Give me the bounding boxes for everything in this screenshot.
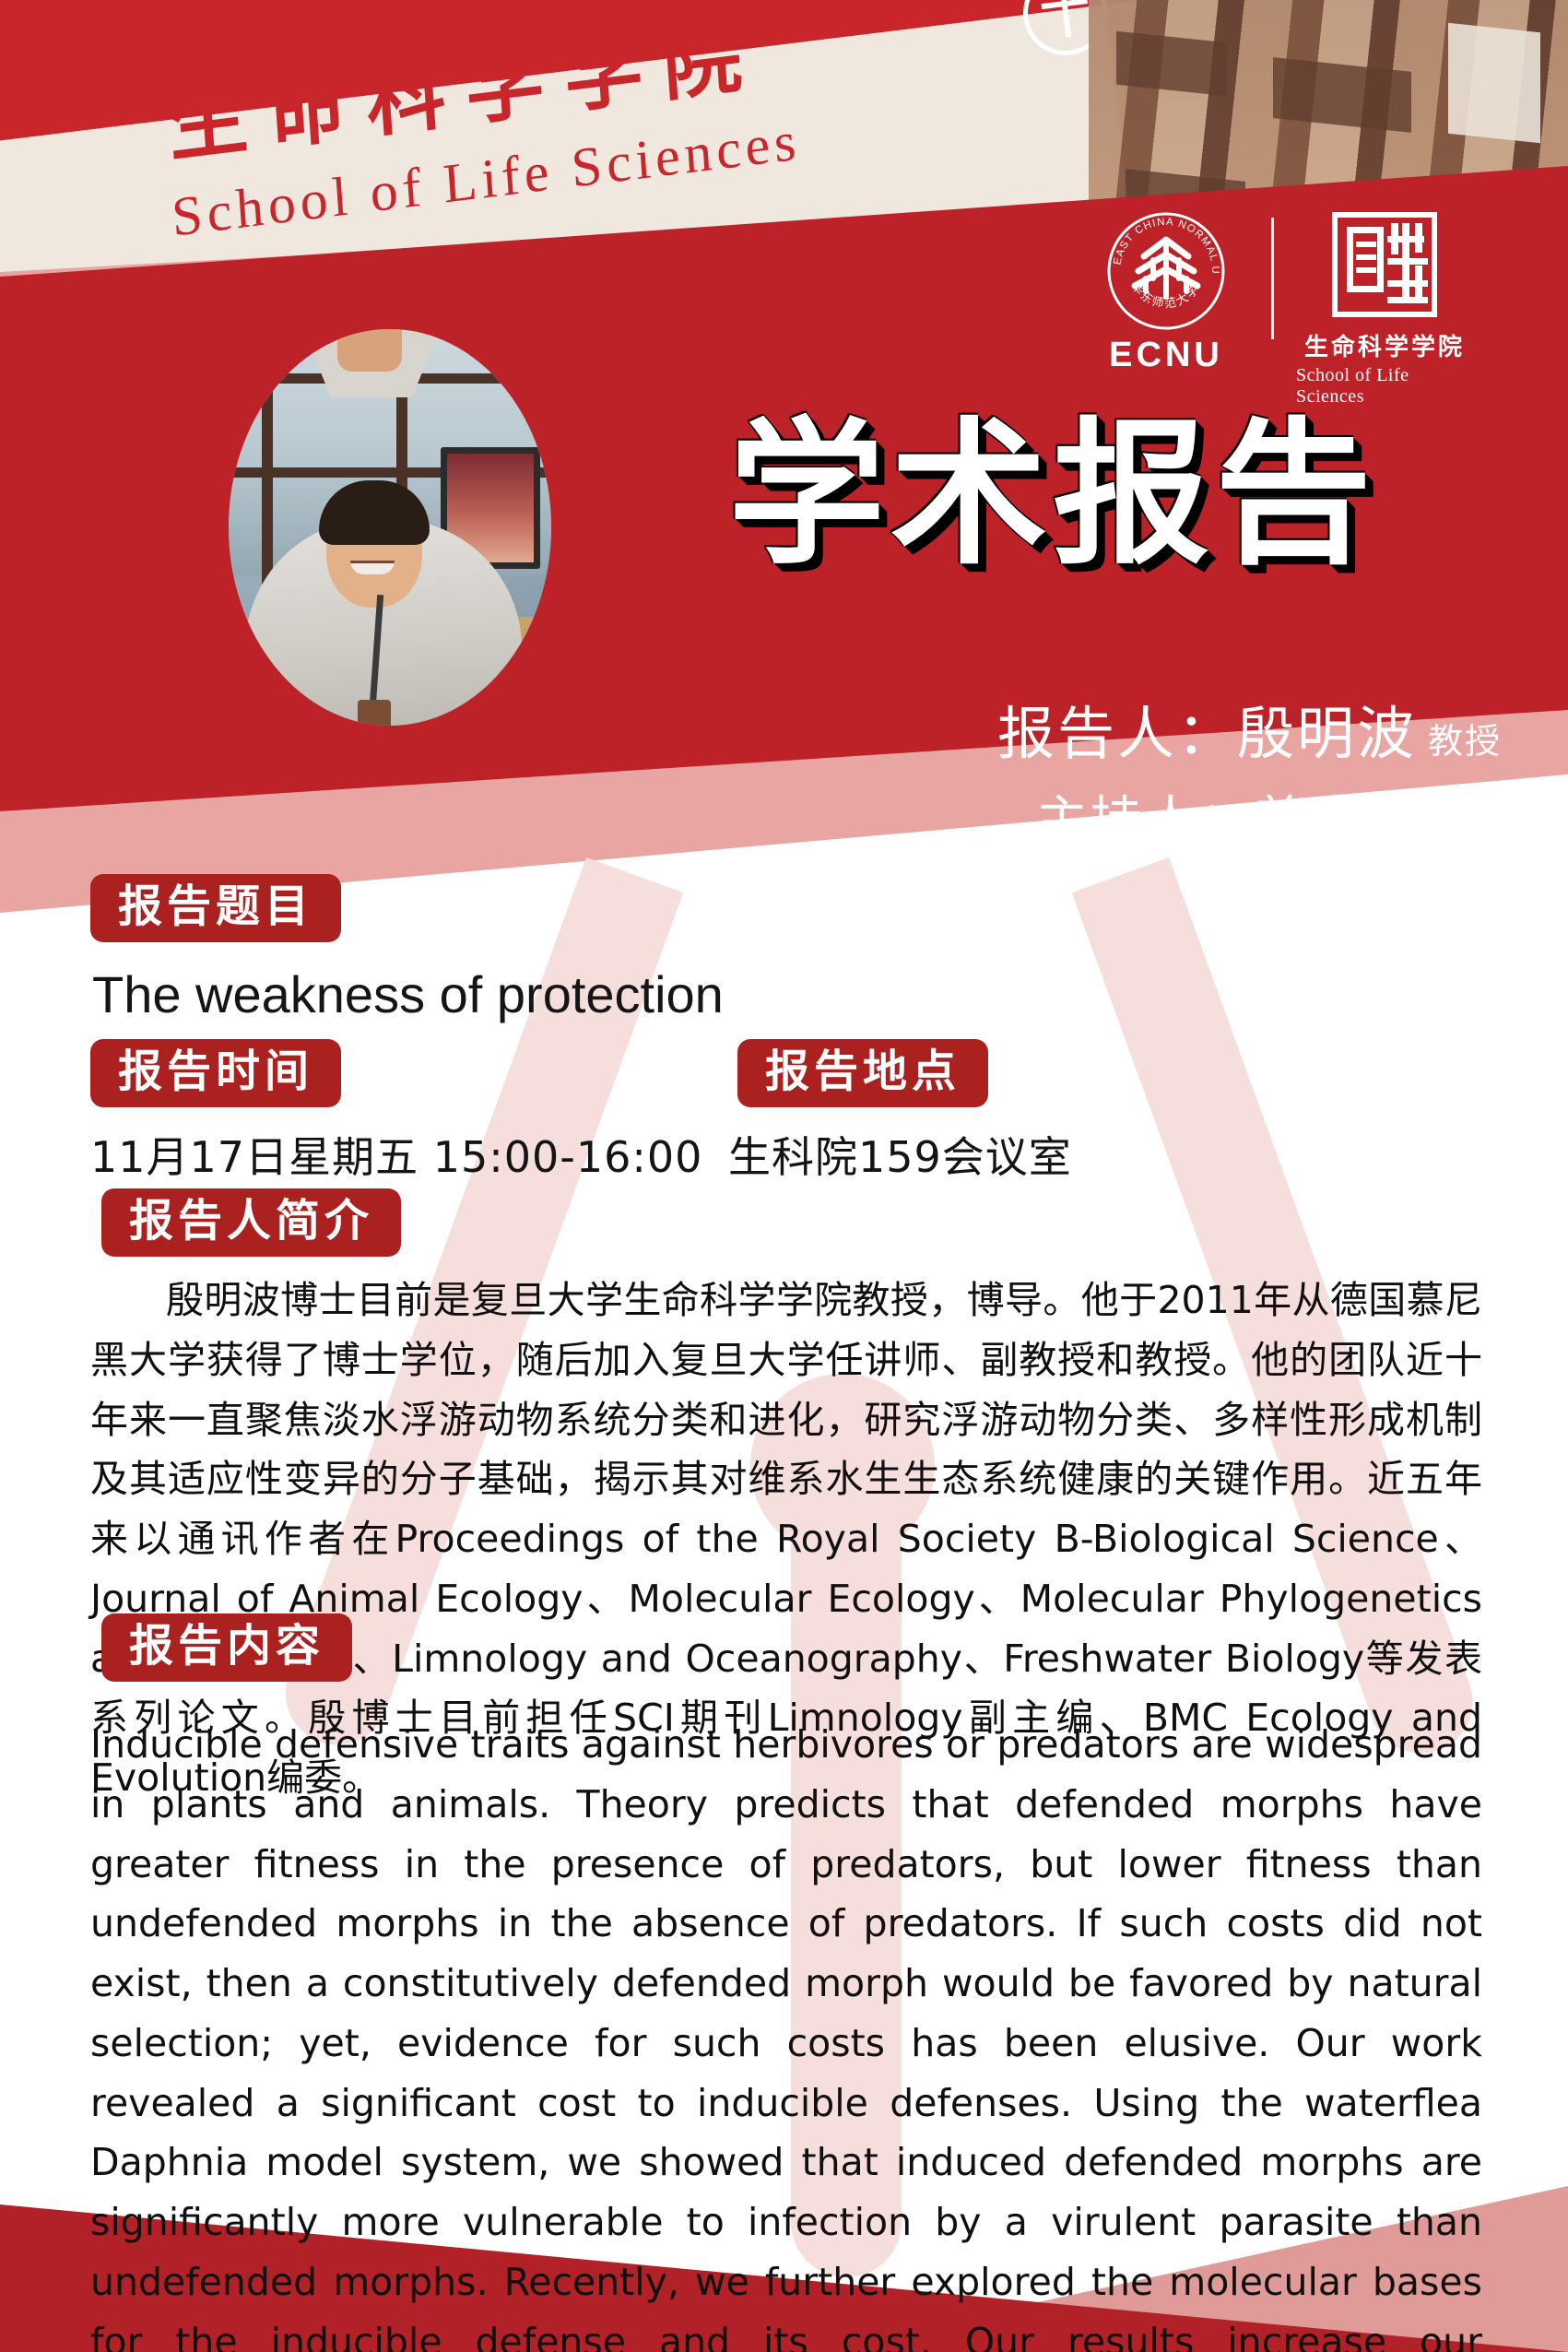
section-badge-speaker-bio: 报告人简介 bbox=[101, 1188, 401, 1257]
section-badge-time: 报告时间 bbox=[90, 1039, 341, 1107]
section-badge-place: 报告地点 bbox=[737, 1039, 988, 1107]
abstract-text: Inducible defensive traits against herbi… bbox=[90, 1715, 1482, 2352]
section-badge-abstract: 报告内容 bbox=[101, 1613, 352, 1682]
talk-time-value: 11月17日星期五 15:00-16:00 bbox=[90, 1124, 702, 1185]
section-badge-talk-title: 报告题目 bbox=[90, 874, 341, 942]
talk-place-value: 生科院159会议室 bbox=[728, 1124, 1072, 1185]
poster-body: 报告题目 The weakness of protection 报告时间 报告地… bbox=[0, 0, 1568, 2352]
talk-title-text: The weakness of protection bbox=[92, 964, 724, 1024]
seminar-poster: 生命科学学院 School of Life Sciences bbox=[0, 0, 1568, 2352]
